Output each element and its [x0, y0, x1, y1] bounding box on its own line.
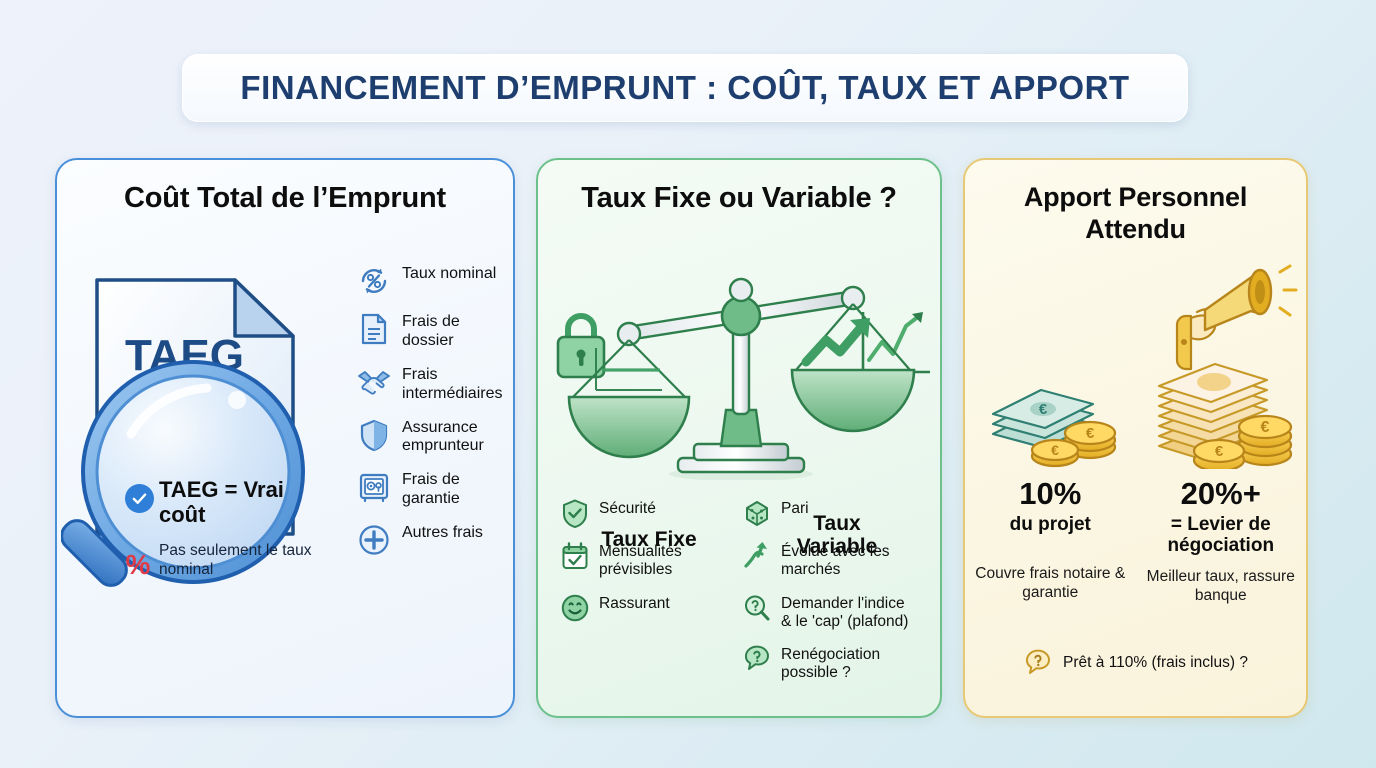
- list-item-label: Frais intermédiaires: [402, 365, 507, 404]
- check-circle-icon: [125, 484, 154, 513]
- list-item-label: Taux nominal: [402, 264, 496, 284]
- magnifier-headline: TAEG = Vrai coût: [159, 478, 315, 527]
- cash-stack-icon: € € €: [965, 264, 1310, 469]
- infographic-canvas: FINANCEMENT D’EMPRUNT : COÛT, TAUX ET AP…: [0, 0, 1376, 768]
- tier-note: Meilleur taux, rassure banque: [1144, 568, 1299, 606]
- panel-cout-total: Coût Total de l’Emprunt TAEG: [55, 158, 515, 718]
- list-item-label: Frais de dossier: [402, 312, 507, 351]
- up-arrow-icon: [806, 318, 870, 362]
- page-title: FINANCEMENT D’EMPRUNT : COÛT, TAUX ET AP…: [240, 69, 1129, 107]
- list-item: Autres frais: [357, 523, 507, 557]
- growth-chart-icon: [863, 312, 930, 372]
- list-item: Taux nominal: [357, 264, 507, 298]
- apport-tier-10: 10% du projet Couvre frais notaire & gar…: [965, 478, 1136, 606]
- tier-subtitle: = Levier de négociation: [1144, 514, 1299, 558]
- panel-taux-fixe-variable: Taux Fixe ou Variable ?: [536, 158, 942, 718]
- tier-amount: 10%: [973, 478, 1128, 511]
- magnifier-illustration: TAEG = Vrai coût % Pas seulement le taux…: [61, 342, 319, 610]
- list-item: Assurance emprunteur: [357, 418, 507, 457]
- cost-feature-list: Taux nominal Frais de dossier: [357, 264, 507, 571]
- percent-icon: %: [123, 550, 153, 580]
- panel-left-body: TAEG: [57, 264, 513, 720]
- list-item-label: Autres frais: [402, 523, 483, 543]
- list-item: Demander l'indice & le 'cap' (plafond): [742, 593, 918, 632]
- speech-question-icon: [742, 644, 772, 674]
- up-arrow-icon: [742, 541, 772, 571]
- dice-icon: [742, 498, 772, 528]
- taux-points-columns: Sécurité Mensualités prévisibles: [538, 498, 940, 696]
- list-item-label: Renégociation possible ?: [781, 644, 918, 683]
- list-item: Renégociation possible ?: [742, 644, 918, 683]
- svg-text:€: €: [1051, 442, 1059, 458]
- list-item: Sécurité: [560, 498, 736, 528]
- apport-tier-20: 20%+ = Levier de négociation Meilleur ta…: [1136, 478, 1307, 606]
- smiley-icon: [560, 593, 590, 623]
- svg-text:€: €: [1261, 419, 1270, 436]
- list-item-label: Rassurant: [599, 593, 670, 613]
- panel-heading-cout: Coût Total de l’Emprunt: [57, 160, 513, 216]
- panel-heading-taux: Taux Fixe ou Variable ?: [538, 160, 940, 216]
- list-item-label: Demander l'indice & le 'cap' (plafond): [781, 593, 918, 632]
- speech-question-icon: [1023, 648, 1053, 678]
- list-item-label: Mensualités prévisibles: [599, 541, 736, 580]
- handshake-icon: [357, 365, 391, 399]
- tier-amount: 20%+: [1144, 478, 1299, 511]
- balance-scale-icon: [538, 260, 944, 480]
- tier-note: Couvre frais notaire & garantie: [973, 565, 1128, 603]
- svg-text:€: €: [1039, 401, 1048, 418]
- money-illustration: € € €: [965, 264, 1306, 469]
- list-item: Rassurant: [560, 593, 736, 623]
- variable-rate-points: Pari Évolue avec les marchés: [742, 498, 918, 696]
- apport-footer-question: Prêt à 110% (frais inclus) ?: [965, 648, 1306, 678]
- page-title-banner: FINANCEMENT D’EMPRUNT : COÛT, TAUX ET AP…: [182, 54, 1188, 122]
- percent-cycle-icon: [357, 264, 391, 298]
- magnifier-callout: TAEG = Vrai coût % Pas seulement le taux…: [125, 478, 315, 579]
- footer-question-label: Prêt à 110% (frais inclus) ?: [1063, 654, 1248, 672]
- panel-apport-personnel: Apport Personnel Attendu €: [963, 158, 1308, 718]
- list-item-label: Frais de garantie: [402, 470, 507, 509]
- calendar-check-icon: [560, 541, 590, 571]
- svg-text:€: €: [1215, 443, 1224, 460]
- list-item-label: Pari: [781, 498, 809, 518]
- list-item: Frais de dossier: [357, 312, 507, 351]
- document-icon: [357, 312, 391, 346]
- list-item: Frais intermédiaires: [357, 365, 507, 404]
- search-question-icon: [742, 593, 772, 623]
- list-item: Mensualités prévisibles: [560, 541, 736, 580]
- apport-tiers: 10% du projet Couvre frais notaire & gar…: [965, 478, 1306, 606]
- list-item-label: Assurance emprunteur: [402, 418, 507, 457]
- shield-icon: [357, 418, 391, 452]
- list-item-label: Évolue avec les marchés: [781, 541, 918, 580]
- list-item: Évolue avec les marchés: [742, 541, 918, 580]
- svg-text:€: €: [1086, 425, 1095, 442]
- padlock-icon: [558, 316, 604, 377]
- list-item: Pari: [742, 498, 918, 528]
- safe-icon: [357, 470, 391, 504]
- list-item-label: Sécurité: [599, 498, 656, 518]
- balance-illustration: Taux Fixe Taux Variable: [538, 260, 940, 480]
- fixed-rate-points: Sécurité Mensualités prévisibles: [560, 498, 736, 696]
- magnifier-subline: Pas seulement le taux nominal: [159, 542, 315, 579]
- megaphone-hand-icon: [1177, 266, 1296, 369]
- plus-circle-icon: [357, 523, 391, 557]
- list-item: Frais de garantie: [357, 470, 507, 509]
- tier-subtitle: du projet: [973, 514, 1128, 536]
- shield-check-icon: [560, 498, 590, 528]
- panel-heading-apport: Apport Personnel Attendu: [965, 160, 1306, 245]
